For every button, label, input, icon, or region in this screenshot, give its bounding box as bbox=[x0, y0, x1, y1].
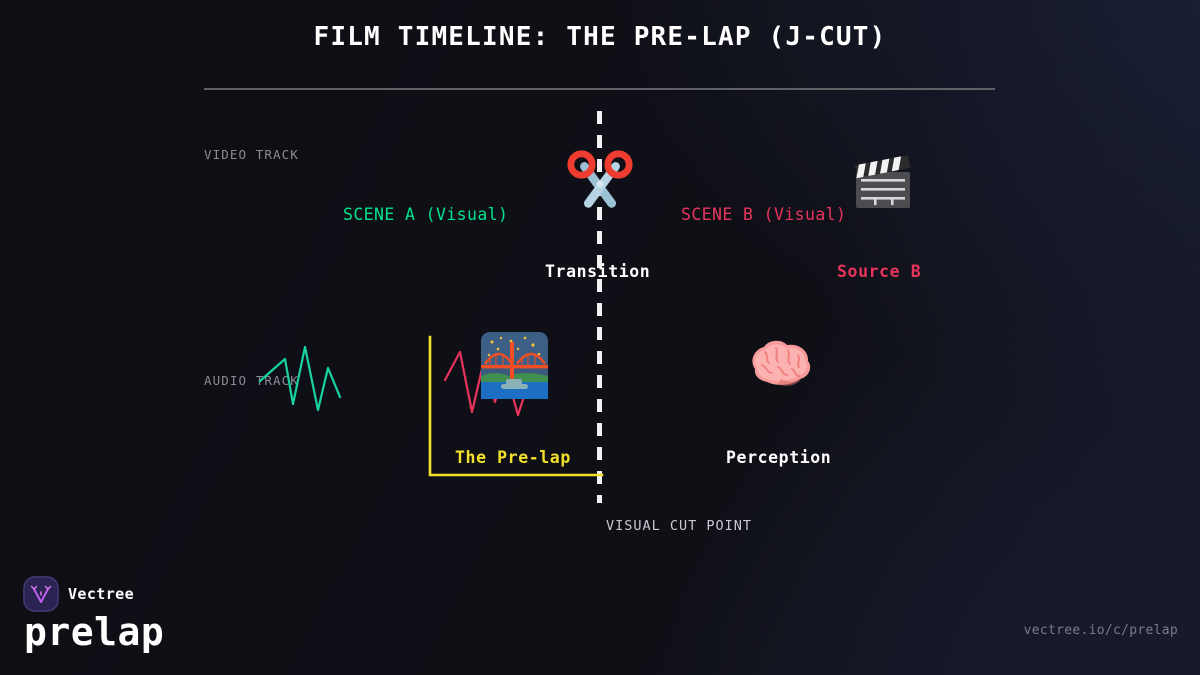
audio-waveform-scene-a bbox=[255, 335, 350, 430]
brain-icon bbox=[745, 335, 817, 397]
slide-slug: prelap bbox=[24, 610, 164, 654]
brand-name: Vectree bbox=[68, 585, 134, 603]
bridge-at-night-icon bbox=[481, 332, 548, 399]
prelap-caption: The Pre-lap bbox=[455, 448, 571, 467]
slide-canvas: FILM TIMELINE: THE PRE-LAP (J-CUT) VIDEO… bbox=[0, 0, 1200, 675]
scissors-icon bbox=[565, 146, 635, 218]
clapper-board-icon bbox=[850, 148, 916, 214]
scene-a-label: SCENE A (Visual) bbox=[343, 205, 508, 224]
title-divider bbox=[204, 88, 995, 90]
perception-caption: Perception bbox=[726, 448, 831, 467]
source-b-caption: Source B bbox=[837, 262, 921, 281]
transition-caption: Transition bbox=[545, 262, 650, 281]
page-title: FILM TIMELINE: THE PRE-LAP (J-CUT) bbox=[0, 22, 1200, 52]
vectree-logo-icon bbox=[23, 576, 59, 612]
footer-url: vectree.io/c/prelap bbox=[1024, 623, 1178, 638]
video-track-label: VIDEO TRACK bbox=[204, 147, 299, 162]
scene-b-label: SCENE B (Visual) bbox=[681, 205, 846, 224]
visual-cut-point-label: VISUAL CUT POINT bbox=[606, 518, 752, 534]
